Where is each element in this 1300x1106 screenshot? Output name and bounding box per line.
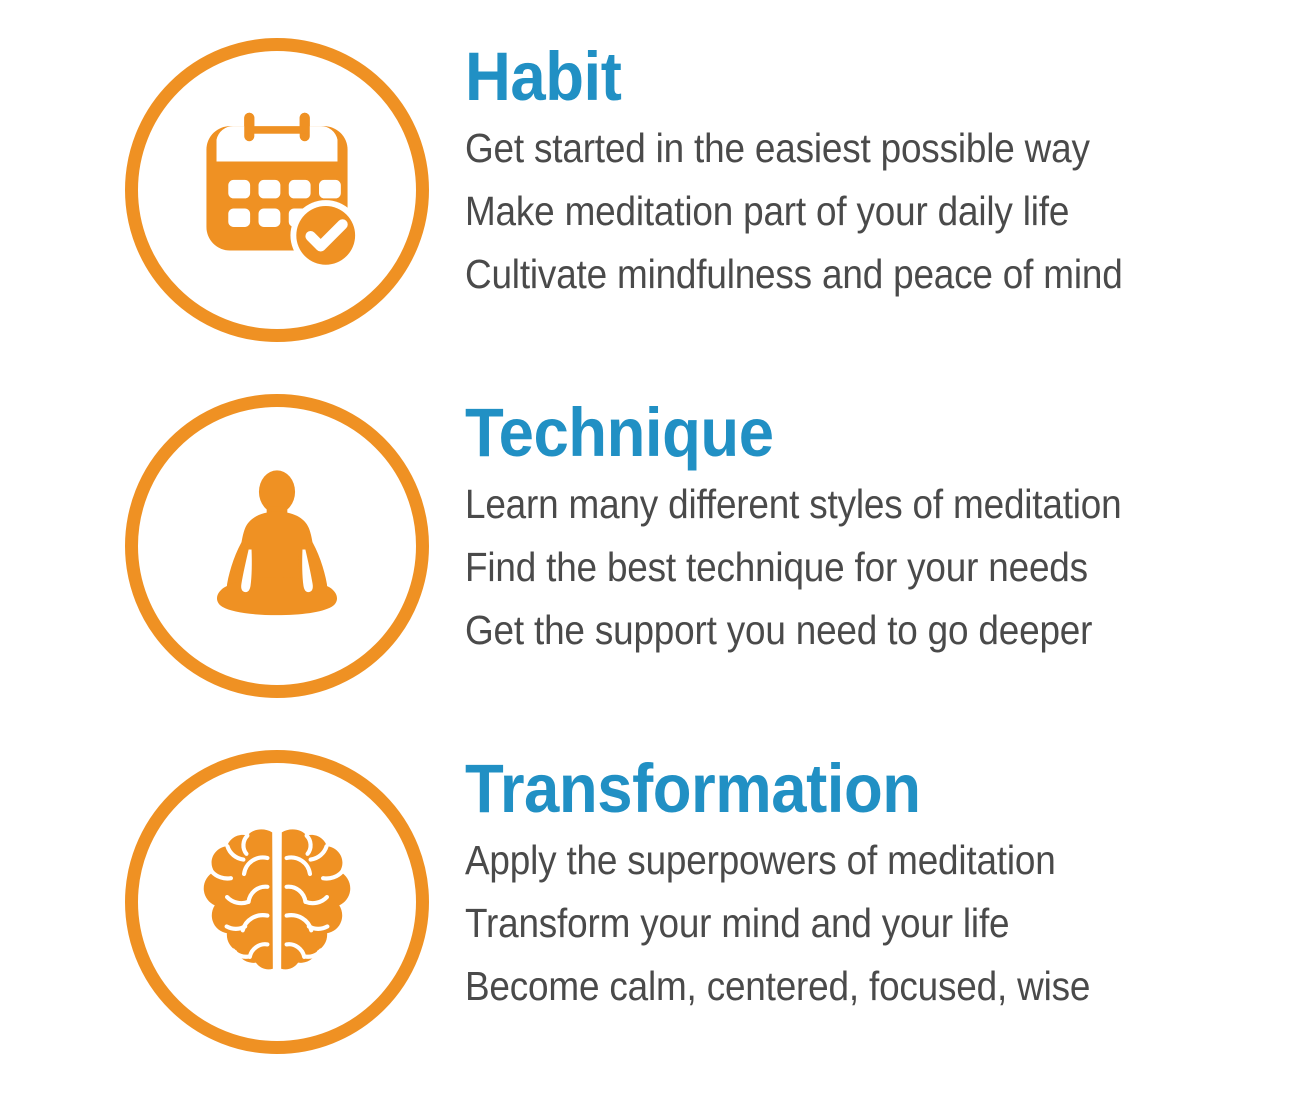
section-heading-habit: Habit <box>465 42 1233 111</box>
icon-medallion-habit <box>125 38 429 342</box>
icon-medallion-transformation <box>125 750 429 1054</box>
bullet-item: Apply the superpowers of meditation <box>465 829 1217 892</box>
bullet-item: Transform your mind and your life <box>465 892 1217 955</box>
meditation-benefits-infographic: Habit Get started in the easiest possibl… <box>0 0 1300 1106</box>
bullet-list-technique: Learn many different styles of meditatio… <box>465 473 1300 662</box>
lotus-meditation-figure-icon <box>191 460 363 632</box>
icon-medallion-technique <box>125 394 429 698</box>
bullet-item: Make meditation part of your daily life <box>465 180 1217 243</box>
bullet-list-transformation: Apply the superpowers of meditation Tran… <box>465 829 1300 1018</box>
section-heading-transformation: Transformation <box>465 754 1233 823</box>
text-column-transformation: Transformation Apply the superpowers of … <box>465 750 1300 1018</box>
bullet-item: Get the support you need to go deeper <box>465 599 1217 662</box>
section-technique: Technique Learn many different styles of… <box>0 394 1300 714</box>
brain-icon <box>197 826 357 978</box>
text-column-habit: Habit Get started in the easiest possibl… <box>465 38 1300 306</box>
bullet-list-habit: Get started in the easiest possible way … <box>465 117 1300 306</box>
section-heading-technique: Technique <box>465 398 1233 467</box>
bullet-item: Become calm, centered, focused, wise <box>465 955 1217 1018</box>
bullet-item: Find the best technique for your needs <box>465 536 1217 599</box>
text-column-technique: Technique Learn many different styles of… <box>465 394 1300 662</box>
section-transformation: Transformation Apply the superpowers of … <box>0 750 1300 1070</box>
bullet-item: Get started in the easiest possible way <box>465 117 1217 180</box>
bullet-item: Cultivate mindfulness and peace of mind <box>465 243 1217 306</box>
section-habit: Habit Get started in the easiest possibl… <box>0 38 1300 358</box>
calendar-check-icon <box>193 106 361 274</box>
bullet-item: Learn many different styles of meditatio… <box>465 473 1217 536</box>
